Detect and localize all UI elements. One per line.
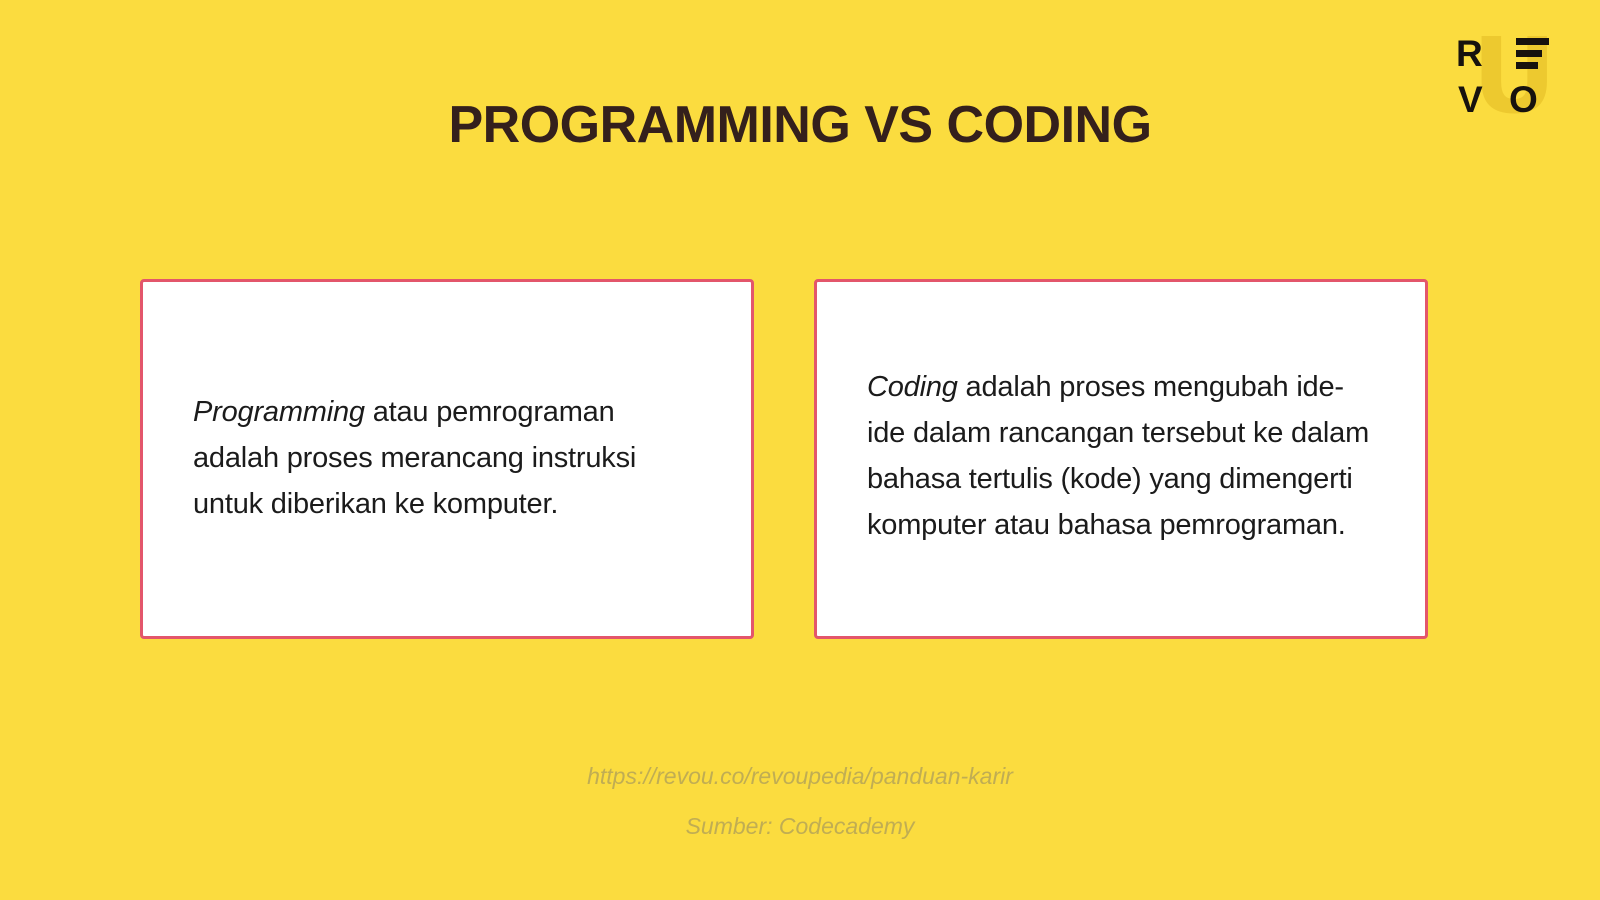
- footer: https://revou.co/revoupedia/panduan-kari…: [0, 765, 1600, 838]
- footer-url[interactable]: https://revou.co/revoupedia/panduan-kari…: [0, 765, 1600, 788]
- logo-e-bar-3: [1516, 62, 1538, 69]
- logo-e-bar-1: [1516, 38, 1549, 45]
- logo-letter-r: R: [1450, 30, 1505, 76]
- card-coding-text: Coding adalah proses mengubah ide-ide da…: [867, 365, 1375, 548]
- card-programming-term: Programming: [193, 396, 365, 428]
- logo-letter-e-icon: [1505, 30, 1560, 76]
- page-title: PROGRAMMING VS CODING: [0, 98, 1600, 153]
- definition-cards: Programming atau pemrograman adalah pros…: [140, 279, 1428, 639]
- card-programming: Programming atau pemrograman adalah pros…: [140, 279, 754, 639]
- card-coding: Coding adalah proses mengubah ide-ide da…: [814, 279, 1428, 639]
- logo-e-bar-2: [1516, 50, 1542, 57]
- slide-root: U R V O PROGRAMMING VS CODING Programmin…: [0, 0, 1600, 900]
- logo-e-bars-icon: [1516, 38, 1549, 69]
- footer-source: Sumber: Codecademy: [0, 815, 1600, 838]
- card-coding-term: Coding: [867, 371, 958, 403]
- card-programming-text: Programming atau pemrograman adalah pros…: [193, 390, 701, 527]
